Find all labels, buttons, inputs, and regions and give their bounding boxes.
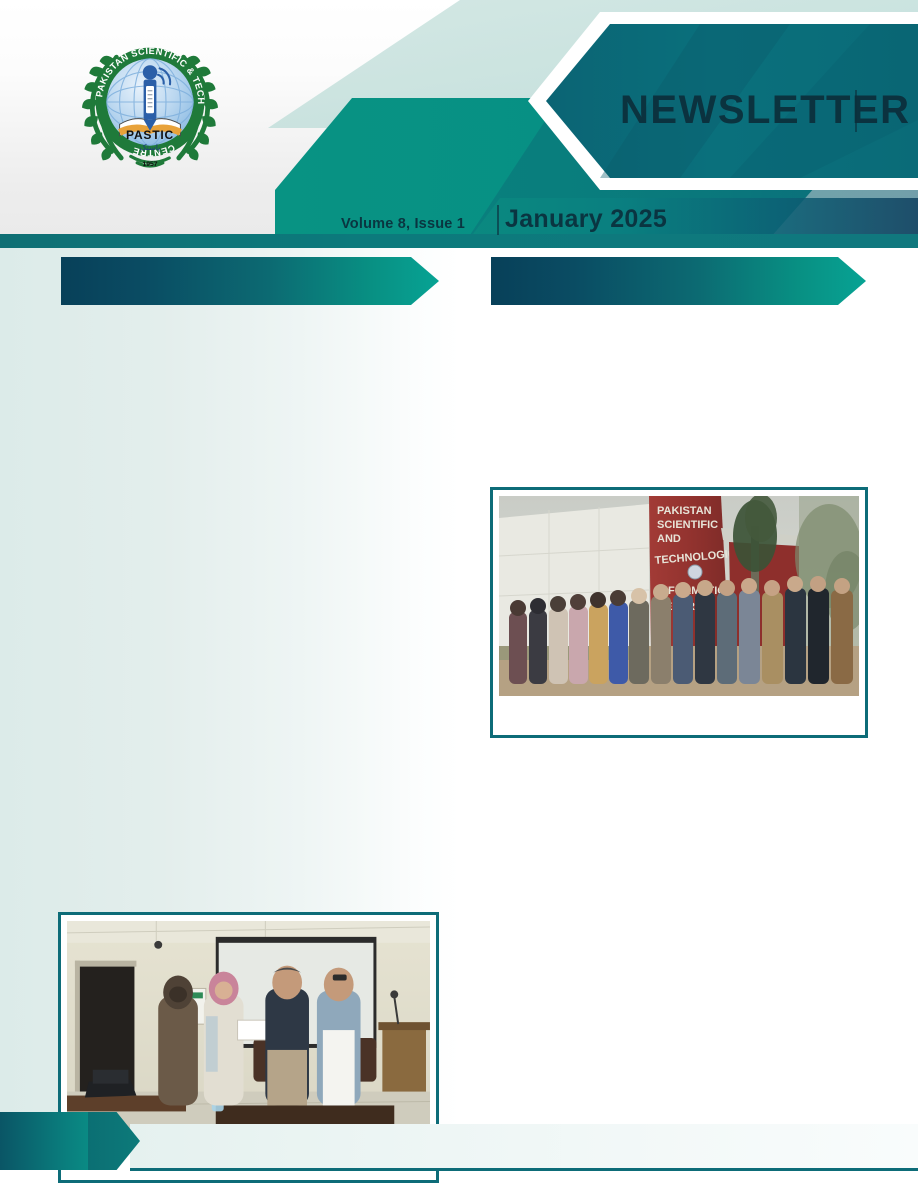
svg-text:AND: AND	[657, 533, 681, 545]
pastic-logo: PAKISTAN SCIENTIFIC & TECHNOLOGICAL INFO…	[70, 22, 230, 182]
footer-rule	[130, 1168, 918, 1171]
section-banner-left-label	[61, 257, 439, 270]
section-banner-right-label	[491, 257, 866, 270]
footer-band	[130, 1124, 918, 1170]
title-accent-bar	[855, 90, 857, 132]
issue-date-label: January 2025	[505, 205, 667, 234]
figure-group-photo: PAKISTAN SCIENTIFIC AND TECHNOLOGICAL IN…	[490, 487, 868, 738]
logo-acronym: PASTIC	[126, 128, 174, 142]
svg-text:SCIENTIFIC: SCIENTIFIC	[657, 519, 718, 531]
page-title: NEWSLETTER	[620, 88, 911, 133]
group-photo-caption	[499, 696, 859, 709]
certificate-photo-illustration	[67, 921, 430, 1131]
page-header: PAKISTAN SCIENTIFIC & TECHNOLOGICAL INFO…	[0, 0, 918, 248]
section-banner-right	[491, 257, 866, 305]
group-photo-image: PAKISTAN SCIENTIFIC AND TECHNOLOGICAL IN…	[499, 496, 859, 696]
header-accent-strip	[0, 234, 918, 248]
date-divider	[497, 205, 499, 235]
group-photo-illustration: PAKISTAN SCIENTIFIC AND TECHNOLOGICAL IN…	[499, 496, 859, 696]
volume-issue-label: Volume 8, Issue 1	[341, 216, 465, 232]
logo-year: 1957	[142, 161, 157, 168]
section-banner-left	[61, 257, 439, 305]
svg-text:PAKISTAN: PAKISTAN	[657, 505, 712, 517]
newsletter-page: PAKISTAN SCIENTIFIC & TECHNOLOGICAL INFO…	[0, 0, 918, 1183]
logo-urdu-text: پاستک	[140, 143, 161, 152]
certificate-photo-image	[67, 921, 430, 1133]
